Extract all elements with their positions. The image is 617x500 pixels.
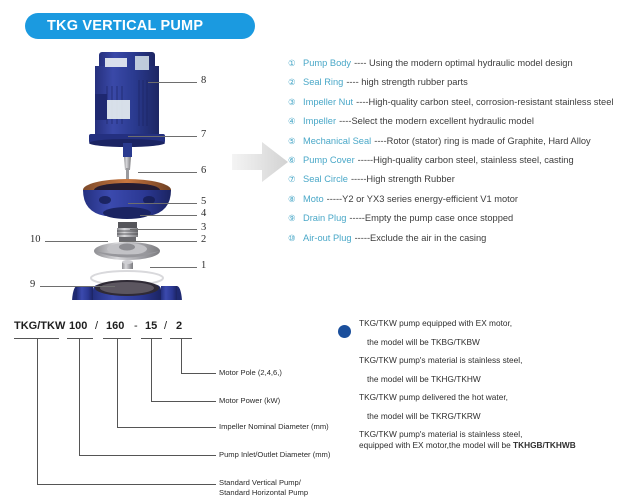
feature-item-9: ⑨ Drain Plug -----Empty the pump case on… [288, 213, 614, 224]
feature-item-4: ④ Impeller ----Select the modern excelle… [288, 116, 614, 127]
model-segment-impeller: 160 [106, 320, 124, 332]
feature-desc: -----High strength Rubber [351, 174, 455, 185]
leader-line-8 [148, 82, 197, 83]
feature-name: Seal Ring [303, 77, 343, 88]
model-separator-1: / [95, 320, 98, 332]
feature-name: Pump Body [303, 58, 351, 69]
legend-line-8: equipped with EX motor,the model will be… [359, 440, 617, 450]
callout-number-3: 3 [201, 222, 206, 233]
feature-name: Pump Cover [303, 155, 355, 166]
elbow-pole [181, 373, 216, 374]
callout-number-5: 5 [201, 196, 206, 207]
callout-number-9: 9 [30, 279, 35, 290]
pump-cover-part [83, 179, 171, 219]
feature-item-8: ⑧ Moto -----Y2 or YX3 series energy-effi… [288, 194, 614, 205]
feature-number: ⑩ [288, 233, 299, 244]
model-separator-3: / [164, 320, 167, 332]
feature-desc: ----Select the modern excellent hydrauli… [339, 116, 534, 127]
feature-number: ④ [288, 116, 299, 127]
model-segment-series: TKG/TKW [14, 320, 65, 332]
leader-line-7 [128, 136, 197, 137]
impeller-nut-part [122, 260, 133, 269]
legend-line-1: TKG/TKW pump equipped with EX motor, [359, 318, 617, 328]
page-title: TKG VERTICAL PUMP [25, 18, 203, 34]
model-code-breakdown: TKG/TKW 100 / 160 - 15 / 2 Motor Pole (2… [0, 312, 330, 500]
feature-name: Air-out Plug [303, 233, 352, 244]
legend-line-8-prefix: equipped with EX motor,the model will be [359, 440, 513, 450]
feature-item-6: ⑥ Pump Cover -----High-quality carbon st… [288, 155, 614, 166]
model-separator-2: - [134, 320, 138, 332]
feature-number: ⑦ [288, 174, 299, 185]
feature-name: Impeller [303, 116, 336, 127]
model-segment-inlet: 100 [69, 320, 87, 332]
feature-number: ⑥ [288, 155, 299, 166]
motor-part [89, 52, 165, 147]
leader-line-1 [150, 267, 197, 268]
note-standard-pump-line2: Standard Horizontal Pump [219, 488, 308, 498]
drop-line-series [37, 338, 38, 484]
feature-number: ⑤ [288, 136, 299, 147]
feature-number: ① [288, 58, 299, 69]
feature-number: ② [288, 77, 299, 88]
feature-desc: -----Exclude the air in the casing [355, 233, 487, 244]
feature-number: ③ [288, 97, 299, 108]
drop-line-inlet [79, 338, 80, 455]
callout-number-7: 7 [201, 129, 206, 140]
pump-body-part [72, 280, 182, 300]
drop-line-power [151, 338, 152, 401]
elbow-power [151, 401, 216, 402]
feature-name: Mechanical Seal [303, 136, 371, 147]
leader-line-4 [140, 215, 197, 216]
feature-name: Seal Circle [303, 174, 348, 185]
feature-number: ⑨ [288, 213, 299, 224]
feature-desc: -----Y2 or YX3 series energy-efficient V… [327, 194, 518, 205]
feature-item-3: ③ Impeller Nut ----High-quality carbon s… [288, 97, 614, 108]
legend-line-8-model: TKHGB/TKHWB [513, 440, 576, 450]
feature-item-2: ② Seal Ring ---- high strength rubber pa… [288, 77, 614, 88]
feature-desc: ----High-quality carbon steel, corrosion… [356, 97, 613, 108]
leader-line-10 [45, 241, 108, 242]
leader-line-3 [130, 229, 197, 230]
elbow-impeller [117, 427, 216, 428]
model-segment-power: 15 [145, 320, 157, 332]
note-standard-pump-line1: Standard Vertical Pump/ [219, 478, 301, 488]
feature-name: Moto [303, 194, 324, 205]
callout-number-10: 10 [30, 234, 41, 245]
feature-desc: ----Rotor (stator) ring is made of Graph… [374, 136, 590, 147]
note-motor-pole: Motor Pole (2,4,6,) [219, 368, 282, 378]
legend-line-6: the model will be TKRG/TKRW [359, 411, 617, 421]
model-segment-pole: 2 [176, 320, 182, 332]
callout-number-2: 2 [201, 234, 206, 245]
leader-line-2 [120, 241, 197, 242]
right-arrow-icon [232, 138, 288, 186]
feature-desc: -----Empty the pump case once stopped [349, 213, 513, 224]
callout-number-4: 4 [201, 208, 206, 219]
feature-desc: ---- Using the modern optimal hydraulic … [354, 58, 573, 69]
segment-underline-inlet [67, 338, 93, 339]
mechanical-seal-part [117, 222, 138, 242]
callout-number-8: 8 [201, 75, 206, 86]
callout-number-6: 6 [201, 165, 206, 176]
legend-lines: TKG/TKW pump equipped with EX motor, the… [359, 318, 617, 459]
feature-item-1: ① Pump Body ---- Using the modern optima… [288, 58, 614, 69]
feature-desc: ---- high strength rubber parts [346, 77, 467, 88]
legend-line-5: TKG/TKW pump delivered the hot water, [359, 392, 617, 402]
feature-name: Impeller Nut [303, 97, 353, 108]
note-motor-power: Motor Power (kW) [219, 396, 280, 406]
feature-item-5: ⑤ Mechanical Seal ----Rotor (stator) rin… [288, 136, 614, 147]
feature-name: Drain Plug [303, 213, 346, 224]
note-impeller-diam: Impeller Nominal Diameter (mm) [219, 422, 329, 432]
feature-item-7: ⑦ Seal Circle -----High strength Rubber [288, 174, 614, 185]
bullet-dot-icon [338, 325, 351, 338]
legend-line-2: the model will be TKBG/TKBW [359, 337, 617, 347]
drop-line-impeller [117, 338, 118, 427]
feature-desc: -----High-quality carbon steel, stainles… [358, 155, 574, 166]
leader-line-5 [128, 203, 197, 204]
leader-line-9 [40, 286, 115, 287]
impeller-part [94, 242, 160, 260]
feature-number: ⑧ [288, 194, 299, 205]
feature-list: ① Pump Body ---- Using the modern optima… [288, 58, 614, 252]
leader-line-6 [138, 172, 197, 173]
legend-line-3: TKG/TKW pump's material is stainless ste… [359, 355, 617, 365]
elbow-inlet [79, 455, 216, 456]
callout-number-1: 1 [201, 260, 206, 271]
legend-line-4: the model will be TKHG/TKHW [359, 374, 617, 384]
note-inlet-diam: Pump Inlet/Outlet Diameter (mm) [219, 450, 330, 460]
elbow-series [37, 484, 216, 485]
shaft-part [123, 143, 132, 184]
drop-line-pole [181, 338, 182, 373]
legend-line-7: TKG/TKW pump's material is stainless ste… [359, 429, 617, 439]
page-title-banner: TKG VERTICAL PUMP [25, 13, 255, 39]
feature-item-10: ⑩ Air-out Plug -----Exclude the air in t… [288, 233, 614, 244]
pump-exploded-diagram [55, 50, 215, 300]
